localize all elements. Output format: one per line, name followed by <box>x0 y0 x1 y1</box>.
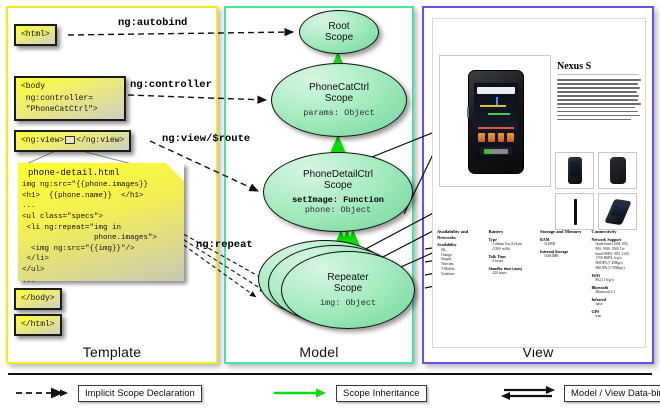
legend-divider <box>8 373 652 375</box>
scope-repeater: Repeater Scope img: Object <box>281 251 415 329</box>
spec-values: 802.11 b/g/n <box>592 278 642 283</box>
ngview-placeholder-icon <box>65 136 75 144</box>
scope-phonedetailctrl-name: PhoneDetailCtrl Scope <box>303 169 373 191</box>
spec-values: Quad-band GSM: 850, 900, 1800, 1900 Tri-… <box>592 242 642 271</box>
spec-values: 512MB <box>540 242 590 247</box>
panel-model-label: Model <box>226 344 412 360</box>
app-icon <box>507 133 514 142</box>
phone-screen <box>474 83 518 159</box>
spec-values: SK, Orange, Singtel, Telecom, T-Mobile, … <box>437 248 487 277</box>
wallpaper-line-red <box>478 127 514 129</box>
thumbnail-phone-side[interactable] <box>555 193 594 230</box>
scope-phonecatctrl: PhoneCatCtrl Scope params: Object <box>271 63 407 137</box>
thumbnail-phone-angle[interactable] <box>598 193 637 230</box>
app-icon <box>488 133 495 142</box>
legend-item-data-binding: Model / View Data-binding <box>500 384 660 402</box>
phone-front-icon <box>568 157 582 184</box>
app-icon-row <box>478 133 514 143</box>
spec-header: Availability and Networks <box>437 229 487 240</box>
wallpaper-line-yellow <box>480 105 506 107</box>
spec-header: Battery <box>489 229 539 235</box>
legend-label-implicit-scope: Implicit Scope Declaration <box>78 385 202 402</box>
legend-label-data-binding: Model / View Data-binding <box>564 385 660 402</box>
specs-table: Availability and Networks Availability S… <box>437 229 641 319</box>
scope-root-name: Root Scope <box>325 21 353 43</box>
ngview-close-label: </ng:view> <box>76 136 124 145</box>
spec-column: Availability and Networks Availability S… <box>437 229 487 319</box>
panel-template-label: Template <box>8 344 216 360</box>
thumbnail-phone-back[interactable] <box>598 152 637 189</box>
phone-hero-image <box>468 70 524 174</box>
phone-back-icon <box>610 157 626 184</box>
scope-repeater-props: img: Object <box>320 298 376 308</box>
scope-phonedetailctrl-props: setImage: Function phone: Object <box>292 195 384 215</box>
scope-phonecatctrl-props: params: Object <box>303 108 374 118</box>
scope-phonedetailctrl: PhoneDetailCtrl Scope setImage: Function… <box>263 152 413 232</box>
edge-label-ng-view-route: ng:view/$route <box>162 133 250 145</box>
sticky-note-phone-detail: phone-detail.html img ng:src="{{phone.im… <box>18 163 184 281</box>
thumbnail-phone-front[interactable] <box>555 152 594 189</box>
rendered-view-page: Nexus S Availabili <box>432 18 646 348</box>
spec-column: Connectivity Network Support Quad-band G… <box>592 229 642 319</box>
spec-values: true <box>592 314 642 319</box>
spec-values: 428 hours <box>489 271 539 276</box>
scope-phonecatctrl-name: PhoneCatCtrl Scope <box>309 82 369 104</box>
code-tag-body-open: <body ng:controller= "PhoneCatCtrl"> <box>14 76 126 121</box>
phone-side-icon <box>574 199 577 225</box>
product-title: Nexus S <box>557 61 591 72</box>
phone-side-button-icon <box>467 107 469 118</box>
app-icon <box>498 133 505 142</box>
double-arrow-icon <box>500 385 556 401</box>
diagram-canvas: Template Model View <box>0 0 660 420</box>
code-tag-body-close: </body> <box>14 288 62 310</box>
edge-label-ng-autobind: ng:autobind <box>118 17 187 29</box>
edge-label-ng-repeat: ng:repeat <box>196 239 253 251</box>
code-tag-html-close: </html> <box>14 314 62 336</box>
search-widget-icon <box>477 87 515 94</box>
dock-icon-right <box>499 149 508 154</box>
scope-root: Root Scope <box>299 10 379 54</box>
ngview-open-label: <ng:view> <box>21 136 64 145</box>
phone-angle-icon <box>604 199 631 225</box>
hero-image-frame <box>439 55 551 187</box>
thumbnail-grid <box>555 152 641 230</box>
legend-item-implicit-scope: Implicit Scope Declaration <box>14 384 202 402</box>
spec-header: Connectivity <box>592 229 642 235</box>
spec-column: Storage and Memory RAM 512MB Internal St… <box>540 229 590 319</box>
spec-values: false <box>592 302 642 307</box>
dashed-arrow-icon <box>14 385 70 401</box>
edge-label-ng-controller: ng:controller <box>130 79 212 91</box>
app-icon <box>478 133 485 142</box>
spec-column: Battery Type Lithium Ion (Li-Ion) (1500 … <box>489 229 539 319</box>
note-fold-corner <box>166 163 184 181</box>
spec-values: 6 hours <box>489 259 539 264</box>
legend-item-scope-inheritance: Scope Inheritance <box>272 384 427 402</box>
spec-values: Bluetooth 2.1 <box>592 290 642 295</box>
spec-values: Lithium Ion (Li-Ion) (1500 mAh) <box>489 242 539 252</box>
wallpaper-line-green <box>488 113 510 115</box>
spec-header: Storage and Memory <box>540 229 590 235</box>
green-arrow-icon <box>272 385 328 401</box>
note-title: phone-detail.html <box>18 163 184 180</box>
note-code: img ng:src="{{phone.images}} <h1> {{phon… <box>18 180 184 286</box>
code-tag-html-open: <html> <box>14 24 57 46</box>
phone-dock-bar <box>480 147 512 155</box>
legend-label-scope-inheritance: Scope Inheritance <box>336 385 427 402</box>
spec-values: 16384MB <box>540 254 590 259</box>
product-description-text <box>557 79 641 123</box>
title-divider <box>557 74 639 75</box>
scope-repeater-name: Repeater Scope <box>327 272 368 294</box>
code-tag-ngview: <ng:view></ng:view> <box>14 130 131 152</box>
